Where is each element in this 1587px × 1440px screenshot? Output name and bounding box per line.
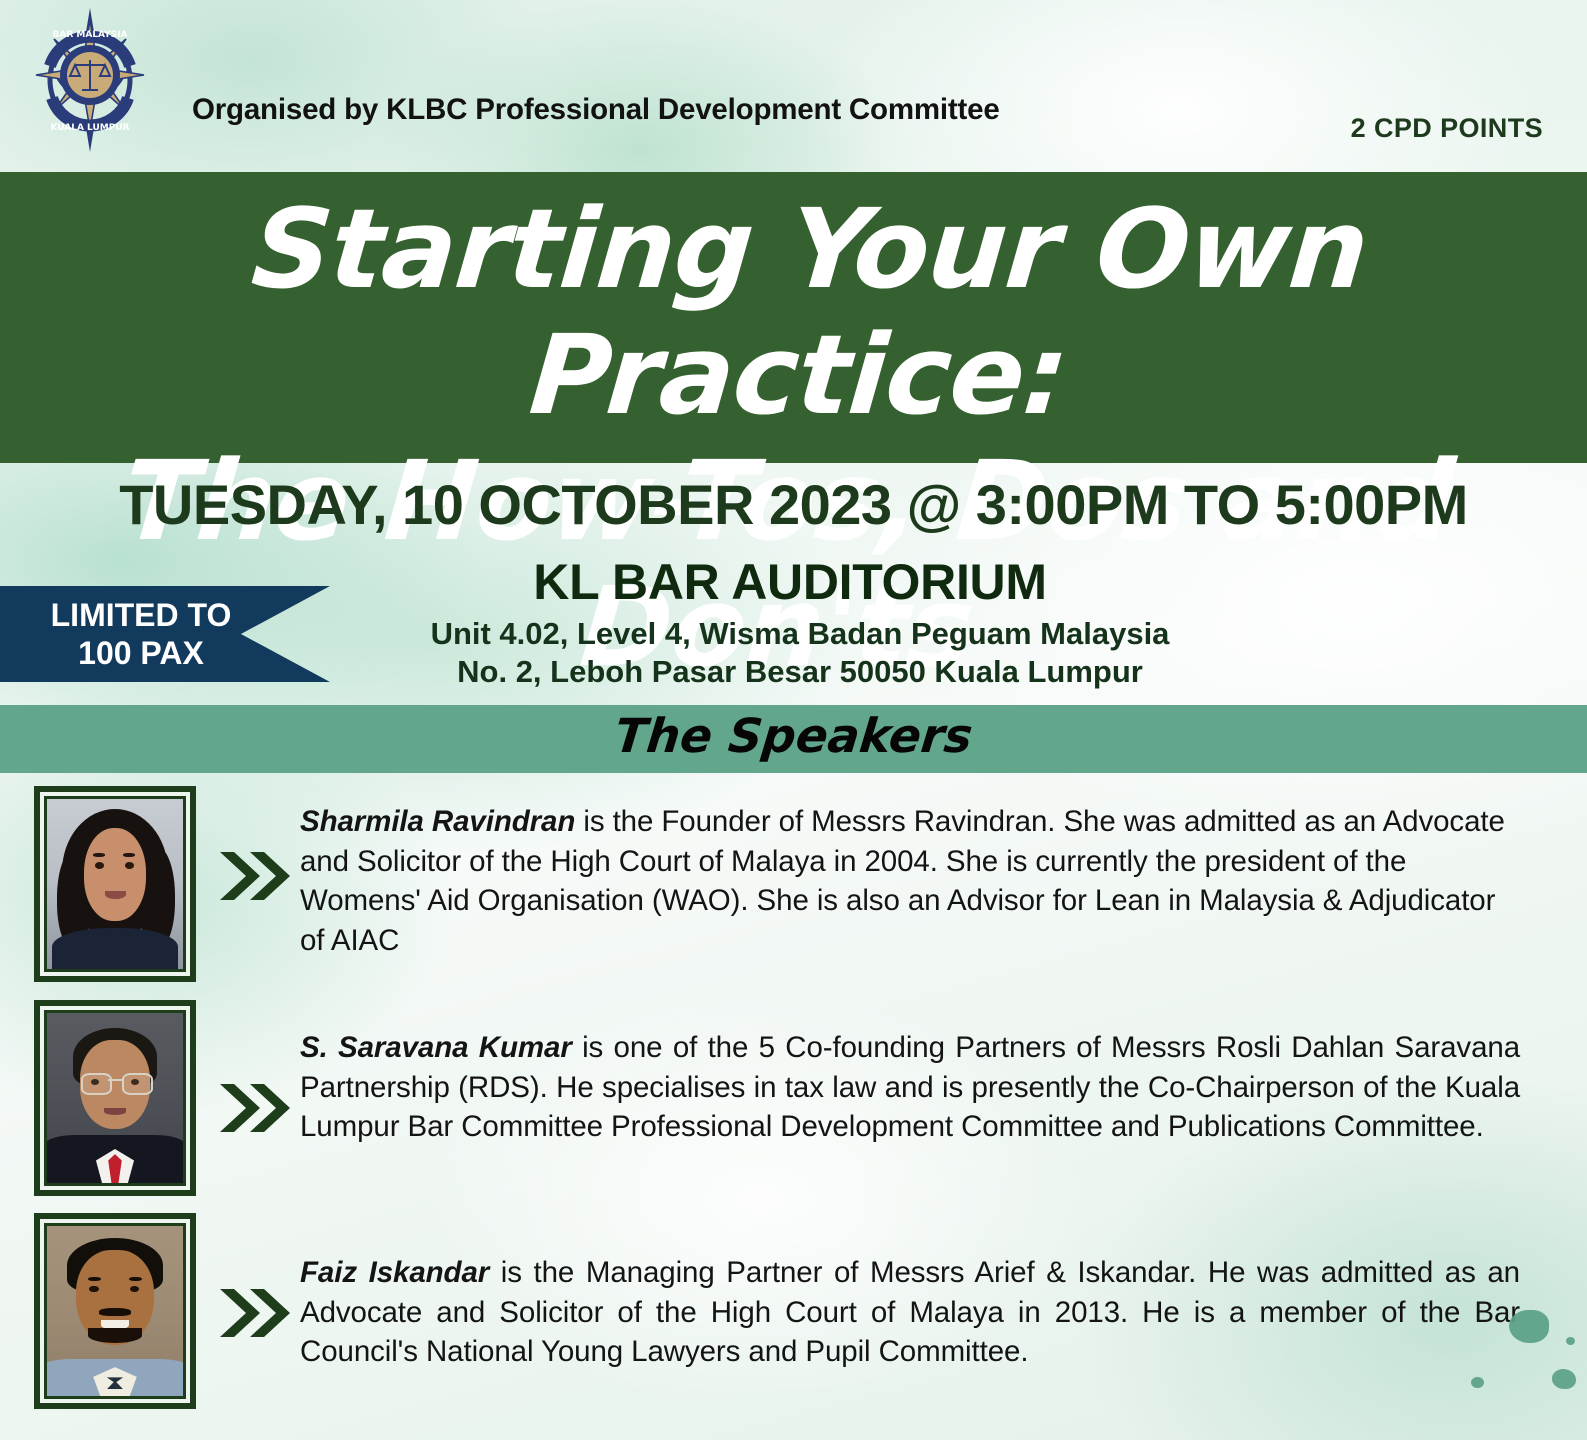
title-line-1: Starting Your Own Practice:	[0, 186, 1587, 438]
speakers-section-band: The Speakers	[0, 705, 1587, 773]
event-venue: KL BAR AUDITORIUM	[330, 553, 1250, 611]
speaker-name: S. Saravana Kumar	[300, 1031, 572, 1064]
event-address: Unit 4.02, Level 4, Wisma Badan Peguam M…	[330, 615, 1270, 691]
capacity-line-1: LIMITED TO	[51, 596, 280, 634]
organiser-label: Organised by KLBC Professional Developme…	[192, 93, 1000, 127]
event-poster: BAR MALAYSIA KUALA LUMPUR Organised by K…	[0, 0, 1587, 1440]
address-line-1: Unit 4.02, Level 4, Wisma Badan Peguam M…	[330, 615, 1270, 653]
speaker-bio: Faiz Iskandar is the Managing Partner of…	[300, 1253, 1520, 1372]
capacity-line-2: 100 PAX	[78, 634, 252, 672]
double-chevron-right-icon	[216, 1080, 290, 1136]
cpd-points-badge: 2 CPD POINTS	[1351, 113, 1543, 144]
double-chevron-right-icon	[216, 848, 290, 904]
svg-text:BAR MALAYSIA: BAR MALAYSIA	[53, 30, 128, 40]
speakers-section-label: The Speakers	[0, 701, 1587, 773]
watercolor-splatter	[1471, 1377, 1484, 1388]
speaker-photo-frame	[34, 1000, 196, 1196]
speaker-bio: S. Saravana Kumar is one of the 5 Co-fou…	[300, 1028, 1520, 1147]
address-line-2: No. 2, Leboh Pasar Besar 50050 Kuala Lum…	[330, 653, 1270, 691]
watercolor-splatter	[1552, 1369, 1576, 1389]
speaker-photo-frame	[34, 786, 196, 982]
avatar	[47, 1013, 183, 1183]
watercolor-splatter	[1509, 1310, 1549, 1343]
speaker-name: Sharmila Ravindran	[300, 805, 575, 838]
avatar	[47, 799, 183, 969]
poster-header: BAR MALAYSIA KUALA LUMPUR Organised by K…	[0, 0, 1587, 172]
malaysian-bar-logo-icon: BAR MALAYSIA KUALA LUMPUR	[28, 6, 152, 154]
watercolor-splatter	[1566, 1337, 1575, 1345]
avatar	[47, 1226, 183, 1396]
double-chevron-right-icon	[216, 1285, 290, 1341]
svg-text:KUALA LUMPUR: KUALA LUMPUR	[50, 123, 129, 133]
title-band: Starting Your Own Practice: The How-Tos,…	[0, 172, 1587, 463]
speaker-bio: Sharmila Ravindran is the Founder of Mes…	[300, 802, 1520, 960]
speaker-photo-frame	[34, 1213, 196, 1409]
event-datetime: TUESDAY, 10 OCTOBER 2023 @ 3:00PM TO 5:0…	[0, 472, 1587, 537]
speaker-name: Faiz Iskandar	[300, 1256, 489, 1289]
